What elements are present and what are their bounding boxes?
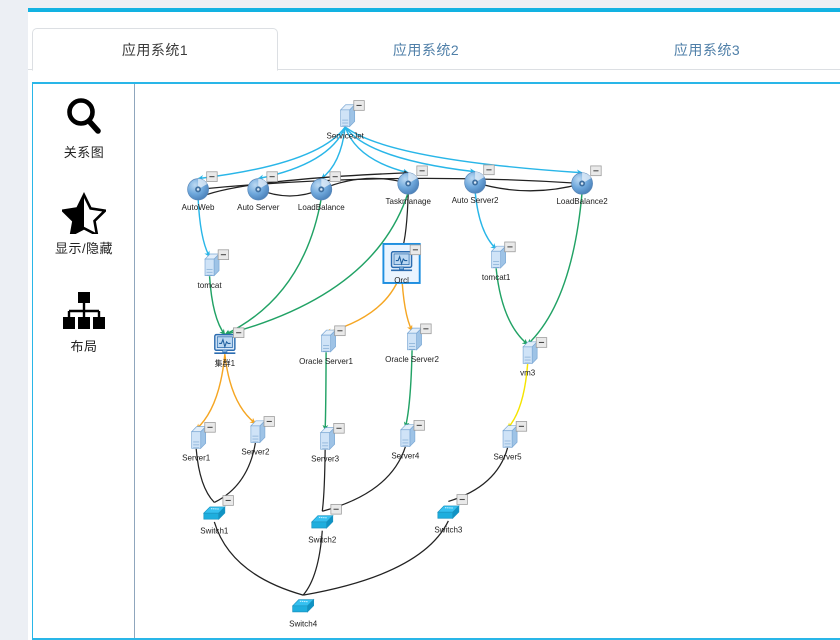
node-label: Oracle Server1	[299, 357, 353, 366]
server-box-icon[interactable]	[251, 421, 265, 443]
switch-icon[interactable]	[312, 516, 333, 528]
app-root: 应用系统1 应用系统2 应用系统3 关系	[0, 0, 840, 640]
collapse-toggle[interactable]	[536, 338, 547, 348]
collapse-toggle[interactable]	[207, 172, 218, 182]
node-label: Auto Server2	[452, 196, 499, 205]
switch-icon[interactable]	[293, 600, 314, 612]
sidebar-item-label: 显示/隐藏	[55, 238, 113, 257]
node-label: Orcl	[394, 276, 409, 285]
node-label: ServiceJet	[326, 132, 364, 141]
collapse-toggle[interactable]	[505, 242, 516, 252]
collapse-toggle[interactable]	[516, 421, 527, 431]
server-box-icon[interactable]	[321, 428, 335, 450]
tab-label: 应用系统2	[393, 40, 459, 60]
server-box-icon[interactable]	[492, 246, 506, 268]
disc-node-icon[interactable]	[188, 179, 209, 200]
collapse-toggle[interactable]	[233, 328, 244, 338]
disc-node-icon[interactable]	[465, 172, 486, 193]
node-label: tomcat1	[482, 273, 511, 282]
edge-LoadBalance-to-cluster1[interactable]	[225, 198, 321, 335]
graph-node-Server4[interactable]: Server4	[391, 420, 424, 460]
edge-AutoServer2-to-LoadBalance2[interactable]	[475, 183, 582, 191]
edge-Switch3-to-Switch4[interactable]	[303, 521, 448, 595]
monitor-db-icon[interactable]	[214, 335, 235, 354]
sidebar-item-label: 布局	[70, 336, 97, 355]
graph-node-Server2[interactable]: Server2	[241, 417, 274, 457]
content-panel: 应用系统1 应用系统2 应用系统3 关系	[28, 12, 840, 640]
collapse-toggle[interactable]	[484, 165, 495, 175]
node-label: Server2	[241, 448, 270, 457]
tab-strip: 应用系统1 应用系统2 应用系统3	[28, 12, 840, 70]
disc-node-icon[interactable]	[572, 173, 593, 194]
tab-app-system-3[interactable]: 应用系统3	[574, 28, 840, 71]
collapse-toggle[interactable]	[410, 245, 421, 255]
collapse-toggle[interactable]	[335, 326, 346, 336]
hierarchy-layout-icon	[61, 288, 107, 334]
sidebar-item-relationship-graph[interactable]: 关系图	[33, 94, 135, 161]
graph-node-OracleServer1[interactable]: Oracle Server1	[299, 326, 353, 366]
node-label: Taskmanage	[386, 197, 432, 206]
disc-node-icon[interactable]	[398, 173, 419, 194]
node-label: LoadBalance	[298, 203, 345, 212]
collapse-toggle[interactable]	[457, 495, 468, 505]
node-label: Server4	[391, 451, 420, 460]
sidebar-item-label: 关系图	[64, 142, 105, 161]
node-label: 集群1	[215, 358, 236, 368]
collapse-toggle[interactable]	[223, 496, 234, 506]
graph-node-Orcl[interactable]: Orcl	[383, 244, 420, 285]
collapse-toggle[interactable]	[267, 172, 278, 182]
collapse-toggle[interactable]	[330, 172, 341, 182]
switch-icon[interactable]	[438, 506, 459, 518]
node-label: Server5	[494, 452, 523, 461]
graph-node-AutoServer[interactable]: Auto Server	[237, 172, 280, 212]
switch-icon[interactable]	[204, 507, 225, 519]
graph-node-tomcat[interactable]: tomcat	[198, 250, 229, 290]
half-star-icon	[62, 190, 106, 236]
disc-node-icon[interactable]	[248, 179, 269, 200]
graph-node-Server3[interactable]: Server3	[311, 423, 344, 463]
graph-node-Switch4[interactable]: Switch4	[289, 600, 318, 629]
collapse-toggle[interactable]	[205, 422, 216, 432]
collapse-toggle[interactable]	[334, 423, 345, 433]
graph-node-OracleServer2[interactable]: Oracle Server2	[385, 324, 439, 364]
graph-node-Taskmanage[interactable]: Taskmanage	[386, 166, 432, 206]
graph-node-vm3[interactable]: vm3	[520, 338, 547, 378]
graph-node-Server1[interactable]: Server1	[182, 422, 215, 462]
edge-ServiceJet-to-AutoServer2[interactable]	[345, 127, 475, 172]
tab-label: 应用系统3	[674, 40, 740, 60]
graph-node-AutoServer2[interactable]: Auto Server2	[452, 165, 499, 205]
edge-Taskmanage-to-cluster1[interactable]	[225, 192, 408, 334]
server-box-icon[interactable]	[401, 425, 415, 447]
node-label: Auto Server	[237, 203, 280, 212]
tab-label: 应用系统1	[122, 40, 188, 60]
tool-sidebar: 关系图 显示/隐藏	[33, 84, 135, 638]
workspace: 关系图 显示/隐藏	[32, 82, 840, 640]
server-box-icon[interactable]	[322, 330, 336, 352]
topology-graph[interactable]: ServiceJetAutoWebAuto ServerLoadBalanceT…	[136, 84, 840, 638]
node-label: Switch1	[200, 527, 229, 536]
sidebar-item-show-hide[interactable]: 显示/隐藏	[33, 190, 135, 257]
collapse-toggle[interactable]	[417, 166, 428, 176]
collapse-toggle[interactable]	[414, 420, 425, 430]
server-box-icon[interactable]	[205, 254, 219, 276]
node-label: AutoWeb	[182, 203, 215, 212]
collapse-toggle[interactable]	[264, 417, 275, 427]
server-box-icon[interactable]	[408, 328, 422, 350]
node-label: Switch4	[289, 619, 318, 628]
collapse-toggle[interactable]	[354, 101, 365, 111]
collapse-toggle[interactable]	[421, 324, 432, 334]
node-label: Server3	[311, 454, 340, 463]
tab-app-system-1[interactable]: 应用系统1	[32, 28, 278, 71]
disc-node-icon[interactable]	[311, 179, 332, 200]
tab-app-system-2[interactable]: 应用系统2	[278, 28, 574, 71]
magnifier-icon	[62, 94, 106, 140]
graph-node-ServiceJet[interactable]: ServiceJet	[326, 101, 364, 141]
monitor-db-icon[interactable]	[391, 252, 412, 271]
node-label: Switch2	[308, 535, 337, 544]
collapse-toggle[interactable]	[591, 166, 602, 176]
node-label: Oracle Server2	[385, 355, 439, 364]
edge-LoadBalance2-to-vm3[interactable]	[528, 192, 582, 344]
topology-canvas[interactable]: ServiceJetAutoWebAuto ServerLoadBalanceT…	[136, 84, 840, 638]
graph-node-tomcat1[interactable]: tomcat1	[482, 242, 515, 282]
node-label: Server1	[182, 453, 211, 462]
server-box-icon[interactable]	[523, 342, 537, 364]
graph-node-Server5[interactable]: Server5	[494, 421, 527, 461]
server-box-icon[interactable]	[341, 105, 355, 127]
node-label: Switch3	[434, 526, 463, 535]
collapse-toggle[interactable]	[331, 504, 342, 514]
node-label: vm3	[520, 369, 536, 378]
server-box-icon[interactable]	[503, 426, 517, 448]
sidebar-item-layout[interactable]: 布局	[33, 288, 135, 355]
node-label: tomcat	[198, 281, 223, 290]
node-label: LoadBalance2	[556, 197, 608, 206]
server-box-icon[interactable]	[192, 427, 206, 449]
collapse-toggle[interactable]	[218, 250, 229, 260]
edge-ServiceJet-to-LoadBalance2[interactable]	[345, 127, 582, 173]
